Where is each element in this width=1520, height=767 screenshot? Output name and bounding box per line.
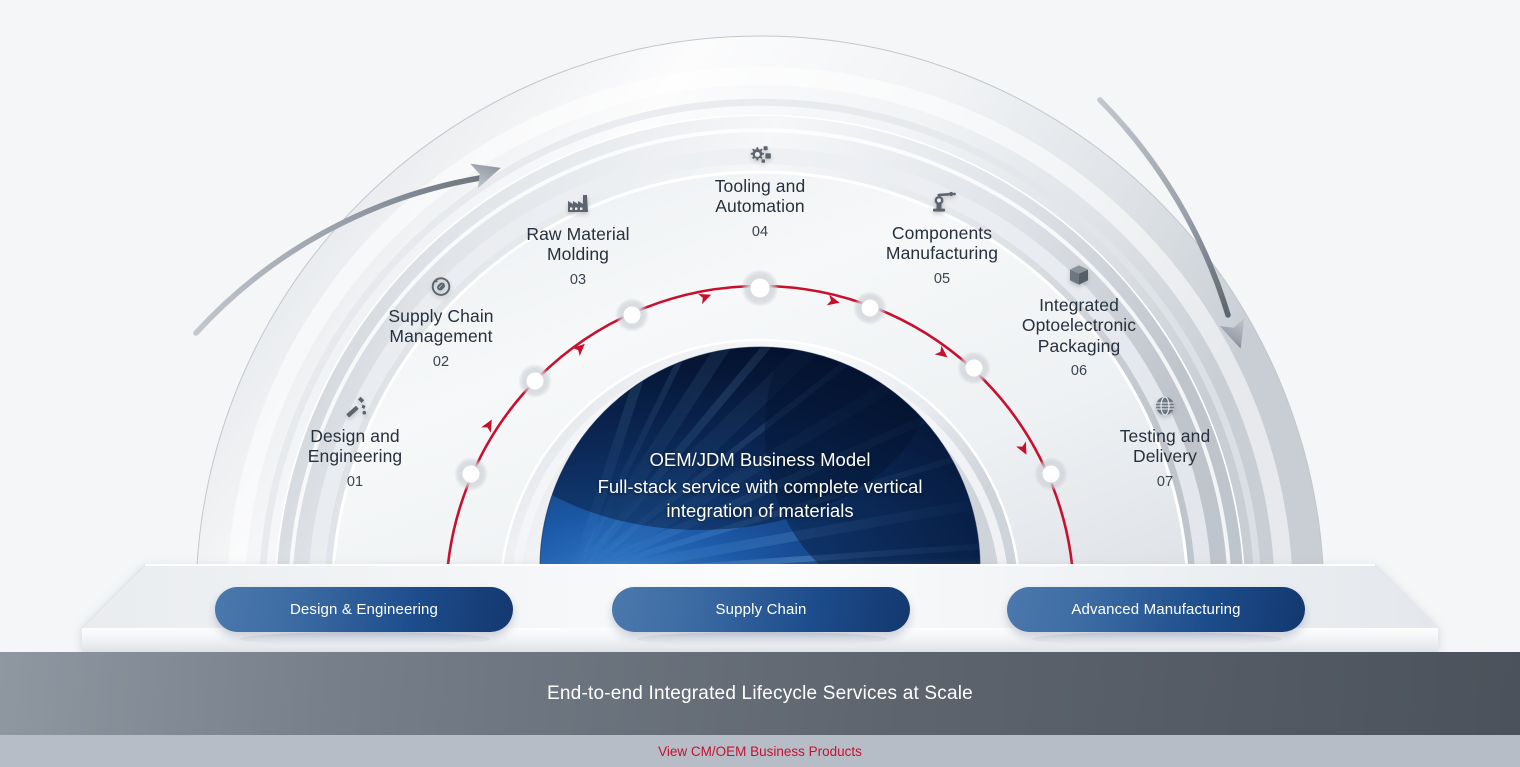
step-number: 02 bbox=[336, 354, 546, 371]
step-title-line1: Supply Chain bbox=[336, 306, 546, 326]
step-title-line2: Molding bbox=[473, 244, 683, 264]
pill-button-advanced-manufacturing[interactable]: Advanced Manufacturing bbox=[1007, 587, 1305, 632]
pill-label: Advanced Manufacturing bbox=[1071, 601, 1240, 618]
step-title-line3: Packaging bbox=[974, 336, 1184, 356]
robot-arm-icon bbox=[837, 191, 1047, 217]
step-title-line2: Optoelectronic bbox=[974, 315, 1184, 335]
footer-headline-bar: End-to-end Integrated Lifecycle Services… bbox=[0, 652, 1520, 735]
step-title-line1: Tooling and bbox=[655, 176, 865, 196]
hub-line3: integration of materials bbox=[540, 499, 980, 523]
step-03[interactable]: Raw Material Molding 03 bbox=[473, 192, 683, 288]
step-title-line2: Management bbox=[336, 326, 546, 346]
step-02[interactable]: Supply Chain Management 02 bbox=[336, 274, 546, 370]
step-title-line1: Components bbox=[837, 223, 1047, 243]
factory-icon bbox=[473, 192, 683, 218]
step-title-line1: Integrated bbox=[974, 295, 1184, 315]
pill-reflection-manufacturing bbox=[1032, 632, 1282, 646]
step-title-line2: Delivery bbox=[1060, 446, 1270, 466]
step-number: 03 bbox=[473, 272, 683, 289]
step-title-line1: Design and bbox=[250, 426, 460, 446]
pill-label: Supply Chain bbox=[715, 601, 806, 618]
drafting-tools-icon bbox=[250, 394, 460, 420]
pill-button-design-engineering[interactable]: Design & Engineering bbox=[215, 587, 513, 632]
step-number: 01 bbox=[250, 474, 460, 491]
step-number: 06 bbox=[974, 363, 1184, 380]
step-01[interactable]: Design and Engineering 01 bbox=[250, 394, 460, 490]
gears-icon bbox=[655, 144, 865, 170]
step-07[interactable]: Testing and Delivery 07 bbox=[1060, 394, 1270, 490]
pill-label: Design & Engineering bbox=[290, 601, 438, 618]
package-box-icon bbox=[974, 263, 1184, 289]
infographic-stage: Design and Engineering 01 Supply Chain M… bbox=[0, 0, 1520, 767]
pill-reflection-design bbox=[240, 632, 490, 646]
footer-link-bar: View CM/OEM Business Products bbox=[0, 735, 1520, 767]
step-04[interactable]: Tooling and Automation 04 bbox=[655, 144, 865, 240]
hub-caption: OEM/JDM Business Model Full-stack servic… bbox=[540, 448, 980, 523]
step-title-line2: Engineering bbox=[250, 446, 460, 466]
step-title-line1: Testing and bbox=[1060, 426, 1270, 446]
step-title-line2: Manufacturing bbox=[837, 243, 1047, 263]
footer-headline: End-to-end Integrated Lifecycle Services… bbox=[547, 683, 973, 705]
step-title-line2: Automation bbox=[655, 196, 865, 216]
step-title-line1: Raw Material bbox=[473, 224, 683, 244]
step-06[interactable]: Integrated Optoelectronic Packaging 06 bbox=[974, 263, 1184, 380]
hub-line1: OEM/JDM Business Model bbox=[540, 448, 980, 472]
pill-button-supply-chain[interactable]: Supply Chain bbox=[612, 587, 910, 632]
step-number: 04 bbox=[655, 224, 865, 241]
hub-line2: Full-stack service with complete vertica… bbox=[540, 475, 980, 499]
pill-reflection-supply bbox=[637, 632, 887, 646]
step-number: 07 bbox=[1060, 474, 1270, 491]
view-products-link[interactable]: View CM/OEM Business Products bbox=[658, 744, 862, 759]
globe-icon bbox=[1060, 394, 1270, 420]
